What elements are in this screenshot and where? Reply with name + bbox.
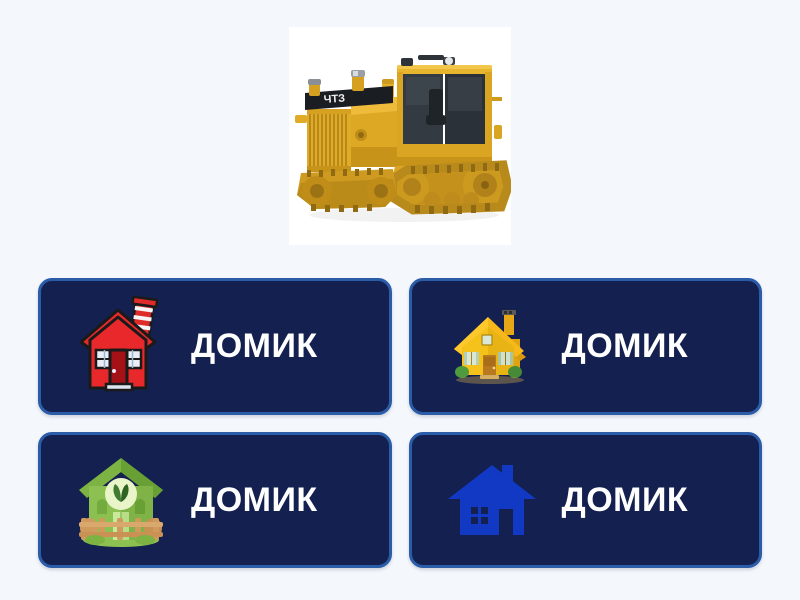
answer-label-3: ДОМИК (169, 483, 375, 517)
answer-label-2: ДОМИК (540, 329, 746, 363)
answer-label-4: ДОМИК (540, 483, 746, 517)
answer-options-grid: ДОМИК (38, 278, 762, 568)
answer-card-4[interactable]: ДОМИК (409, 432, 763, 569)
question-image-area: ЧТЗ (0, 0, 800, 270)
answer-card-2[interactable]: ДОМИК (409, 278, 763, 415)
answer-card-1[interactable]: ДОМИК (38, 278, 392, 415)
yellow-house-emoji-icon (444, 294, 540, 398)
question-image-frame: ЧТЗ (289, 27, 511, 245)
machine-badge-text: ЧТЗ (323, 93, 345, 106)
green-eco-house-icon (73, 448, 169, 552)
blue-flat-house-icon (444, 448, 540, 552)
crawler-bulldozer-photo: ЧТЗ (289, 27, 511, 245)
answer-card-3[interactable]: ДОМИК (38, 432, 392, 569)
red-house-icon (73, 294, 169, 398)
answer-label-1: ДОМИК (169, 329, 375, 363)
